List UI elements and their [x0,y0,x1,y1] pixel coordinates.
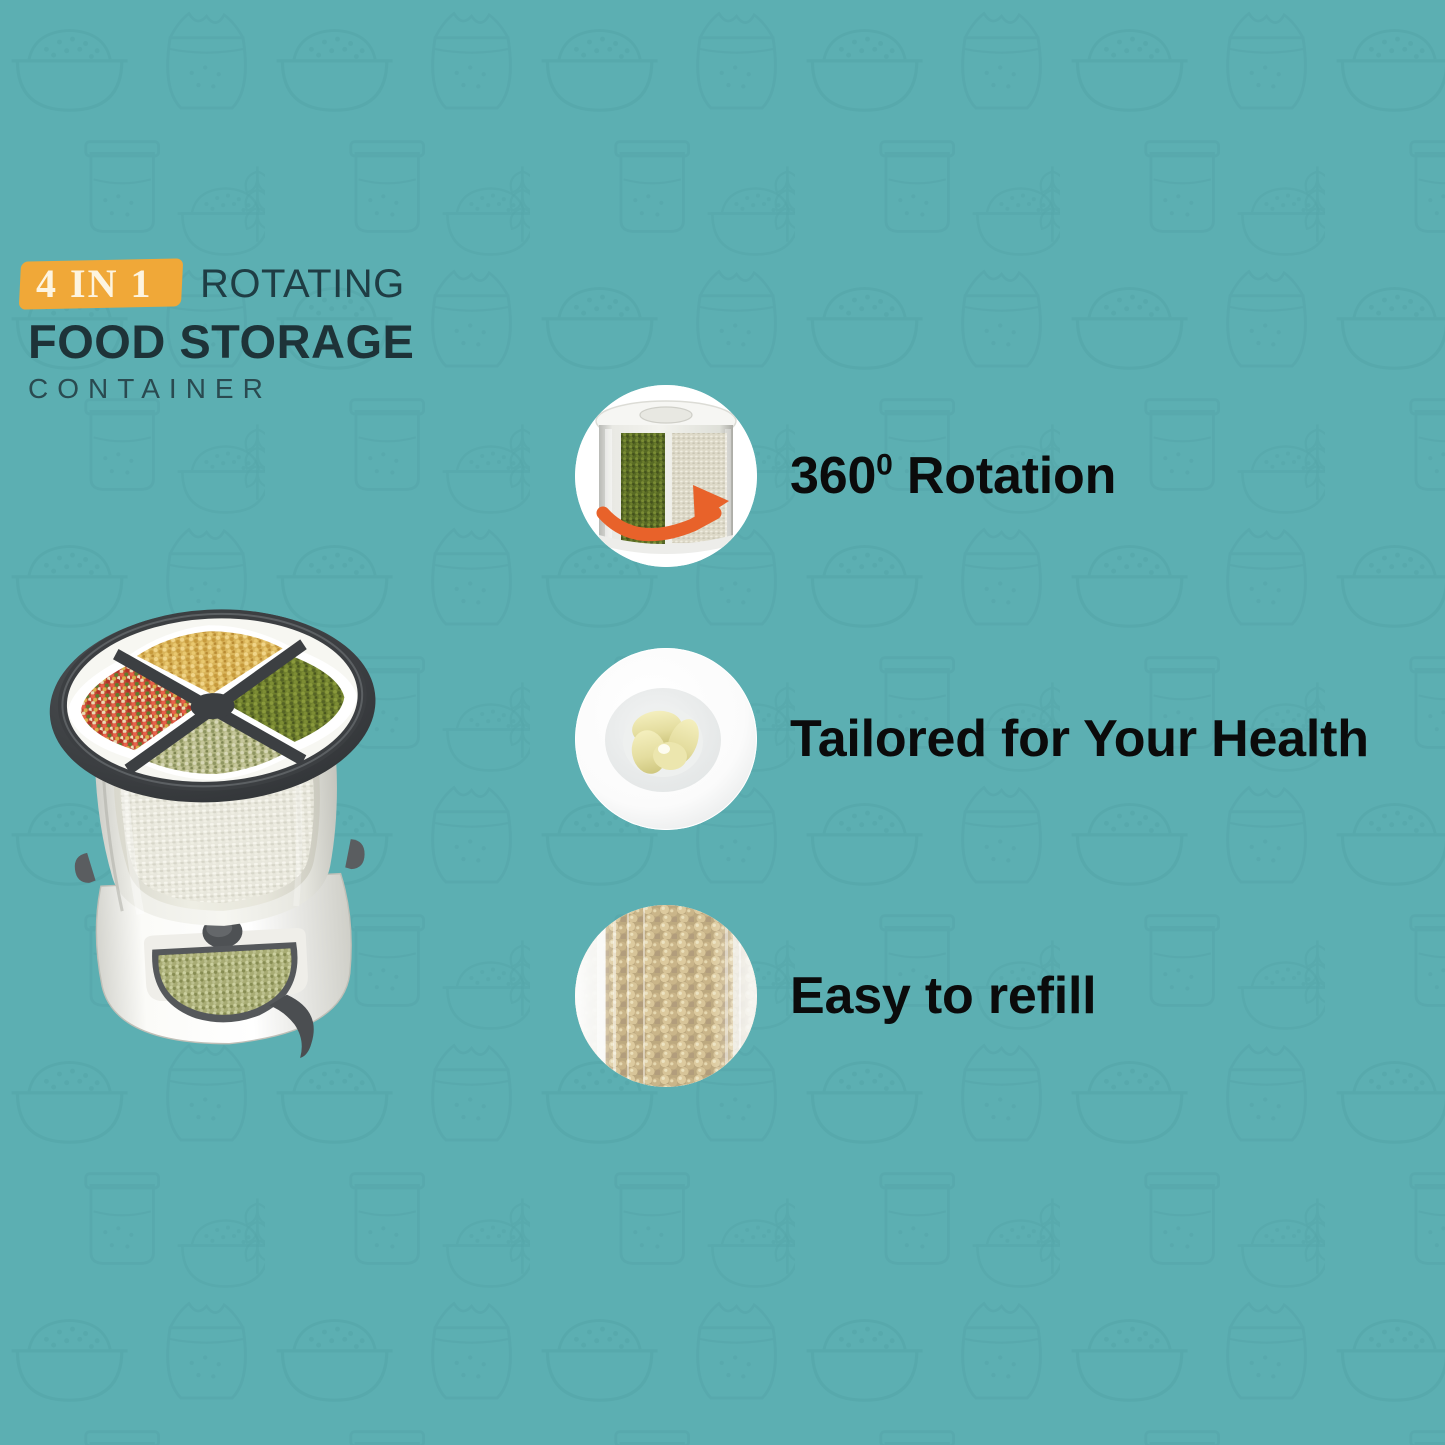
feature-row-health: Tailored for Your Health [575,648,1369,830]
feature-row-refill: Easy to refill [575,905,1096,1087]
feature-label-refill: Easy to refill [790,966,1096,1026]
product-image [28,528,408,1058]
rotation-number: 360 [790,447,876,505]
feature-label-health: Tailored for Your Health [790,709,1369,769]
product-infographic: 4 IN 1 ROTATING FOOD STORAGE CONTAINER [0,0,1445,1445]
rotating-container-thumb [575,385,757,567]
rotation-word: Rotation [893,447,1117,505]
degree-symbol: 0 [876,449,893,482]
headline-block: 4 IN 1 ROTATING FOOD STORAGE CONTAINER [28,258,548,406]
headline-line-3: CONTAINER [28,372,548,406]
headline-line-2: FOOD STORAGE [28,316,548,368]
headline-line-1: 4 IN 1 ROTATING [28,258,548,310]
feature-label-rotation: 3600 Rotation [790,446,1116,506]
garlic-bowl-thumb [575,648,757,830]
feature-row-rotation: 3600 Rotation [575,385,1116,567]
headline-rotating-word: ROTATING [200,262,405,306]
badge-label: 4 IN 1 [36,262,152,306]
chickpeas-fill-thumb [575,905,757,1087]
